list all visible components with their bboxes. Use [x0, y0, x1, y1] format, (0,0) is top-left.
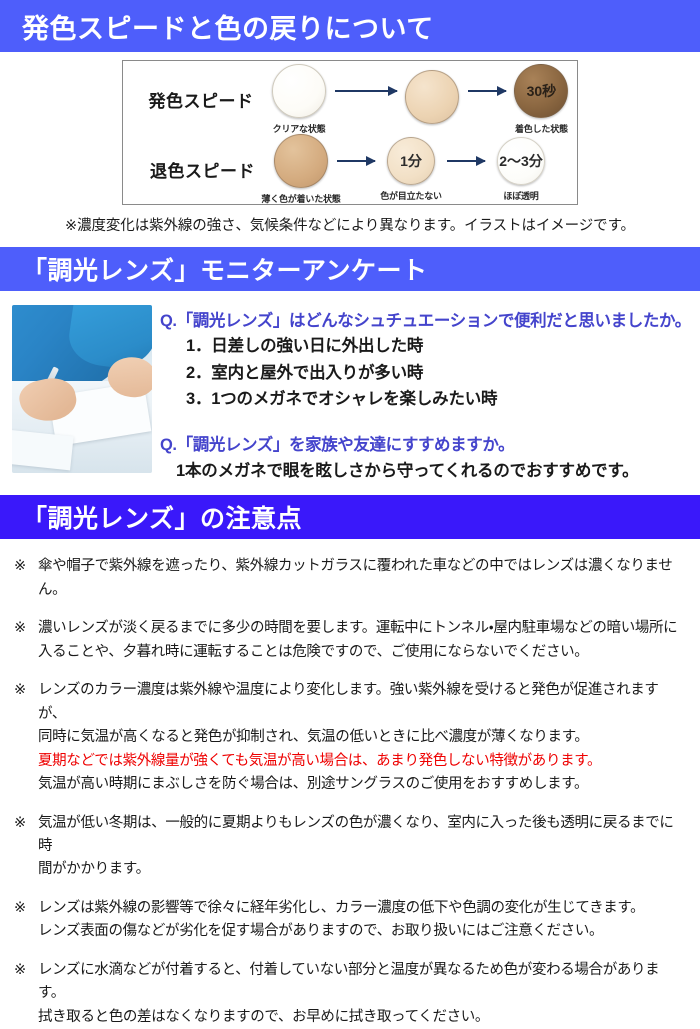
caution-line: レンズ表面の傷などが劣化を促す場合がありますので、お取り扱いにはご注意ください。: [38, 920, 684, 943]
arrow-right-icon: [447, 160, 485, 162]
caution-text: レンズは紫外線の影響等で徐々に経年劣化し、カラー濃度の低下や色調の変化が生じてき…: [38, 897, 684, 944]
caution-text: 気温が低い冬期は、一般的に夏期よりもレンズの色が濃くなり、室内に入った後も透明に…: [38, 812, 684, 882]
lens-badge-faint: 1分: [400, 151, 422, 171]
caution-line: 間がかかります。: [38, 858, 684, 881]
diagram-stage-clear: クリアな状態: [263, 64, 334, 135]
survey-question-1: Q.「調光レンズ」はどんなシュチュエーションで便利だと思いましたか。: [160, 307, 700, 331]
diagram-stage-faint: 1分 色が目立たない: [375, 137, 447, 202]
arrow-right-icon: [468, 90, 506, 92]
caution-bullet-mark: ※: [14, 617, 38, 664]
caution-line: 入ることや、夕暮れ時に運転することは危険ですので、ご使用にならないでください。: [38, 641, 684, 664]
section-heading-cautions-label: 「調光レンズ」の注意点: [22, 499, 302, 535]
survey-photo: [12, 305, 152, 473]
caution-line: 気温が高い時期にまぶしさを防ぐ場合は、別途サングラスのご使用をおすすめします。: [38, 773, 684, 796]
caution-text: レンズのカラー濃度は紫外線や温度により変化します。強い紫外線を受けると発色が促進…: [38, 679, 684, 796]
caution-item: ※ 傘や帽子で紫外線を遮ったり、紫外線カットガラスに覆われた車などの中ではレンズ…: [14, 555, 684, 602]
caution-line: 濃いレンズが淡く戻るまでに多少の時間を要します。運転中にトンネル・屋内駐車場など…: [38, 617, 684, 640]
diagram-stage-near-clear: 2〜3分 ほぼ透明: [485, 137, 557, 202]
lens-circle-dark: 30秒: [514, 64, 568, 118]
section-survey-body: Q.「調光レンズ」はどんなシュチュエーションで便利だと思いましたか。 1．日差し…: [0, 291, 700, 481]
caution-bullet-mark: ※: [14, 959, 38, 1029]
survey-answer-2: 1本のメガネで眼を眩しさから守ってくれるのでおすすめです。: [160, 455, 700, 481]
diagram-row-darkening: 発色スピード クリアな状態 30秒: [123, 63, 577, 135]
caution-line: レンズのカラー濃度は紫外線や温度により変化します。強い紫外線を受けると発色が促進…: [38, 679, 684, 726]
lens-circle-medium: [274, 134, 328, 188]
caution-item: ※ レンズのカラー濃度は紫外線や温度により変化します。強い紫外線を受けると発色が…: [14, 679, 684, 796]
caution-line: レンズに水滴などが付着すると、付着していない部分と温度が異なるため色が変わる場合…: [38, 959, 684, 1006]
survey-spacer: [160, 413, 700, 431]
caution-text: レンズに水滴などが付着すると、付着していない部分と温度が異なるため色が変わる場合…: [38, 959, 684, 1029]
caution-line: 傘や帽子で紫外線を遮ったり、紫外線カットガラスに覆われた車などの中ではレンズは濃…: [38, 555, 684, 602]
section-color-speed-body: 発色スピード クリアな状態 30秒: [0, 60, 700, 235]
diagram-stage-dark: 30秒 着色した状態: [506, 64, 577, 135]
diagram-row-darkening-label: 発色スピード: [123, 87, 263, 112]
diagram-disclaimer-note: ※濃度変化は紫外線の強さ、気候条件などにより異なります。イラストはイメージです。: [0, 214, 700, 235]
speed-diagram-wrapper: 発色スピード クリアな状態 30秒: [0, 60, 700, 205]
diagram-stage-faint-caption: 色が目立たない: [380, 189, 442, 202]
section-heading-cautions: 「調光レンズ」の注意点: [0, 495, 700, 539]
survey-answer-list-1: 1．日差しの強い日に外出した時 2．室内と屋外で出入りが多い時 3．1つのメガネ…: [160, 333, 700, 413]
diagram-stage-medium-caption: 薄く色が着いた状態: [261, 192, 340, 205]
survey-question-2: Q.「調光レンズ」を家族や友達にすすめますか。: [160, 431, 700, 455]
arrow-right-icon: [335, 90, 397, 92]
caution-bullet-mark: ※: [14, 897, 38, 944]
lens-circle-faint: 1分: [387, 137, 435, 185]
arrow-right-icon: [337, 160, 375, 162]
diagram-stage-light: [397, 70, 468, 128]
caution-item: ※ 気温が低い冬期は、一般的に夏期よりもレンズの色が濃くなり、室内に入った後も透…: [14, 812, 684, 882]
diagram-stage-medium: 薄く色が着いた状態: [265, 134, 337, 205]
caution-line: 同時に気温が高くなると発色が抑制され、気温の低いときに比べ濃度が薄くなります。: [38, 726, 684, 749]
caution-bullet-mark: ※: [14, 679, 38, 796]
survey-answer-item: 3．1つのメガネでオシャレを楽しみたい時: [160, 386, 700, 413]
lens-circle-clear: [272, 64, 326, 118]
caution-line: 気温が低い冬期は、一般的に夏期よりもレンズの色が濃くなり、室内に入った後も透明に…: [38, 812, 684, 859]
diagram-row-fading-label: 退色スピード: [123, 157, 265, 182]
lens-badge-near-clear: 2〜3分: [499, 151, 543, 171]
survey-answer-item: 2．室内と屋外で出入りが多い時: [160, 360, 700, 387]
diagram-stage-near-clear-caption: ほぼ透明: [503, 189, 538, 202]
caution-item: ※ 濃いレンズが淡く戻るまでに多少の時間を要します。運転中にトンネル・屋内駐車場…: [14, 617, 684, 664]
section-heading-survey-label: 「調光レンズ」モニターアンケート: [22, 251, 428, 287]
survey-answer-item: 1．日差しの強い日に外出した時: [160, 333, 700, 360]
section-cautions-body: ※ 傘や帽子で紫外線を遮ったり、紫外線カットガラスに覆われた車などの中ではレンズ…: [0, 539, 700, 1029]
section-heading-survey: 「調光レンズ」モニターアンケート: [0, 247, 700, 291]
speed-diagram: 発色スピード クリアな状態 30秒: [122, 60, 578, 205]
caution-bullet-mark: ※: [14, 812, 38, 882]
lens-circle-light: [405, 70, 459, 124]
section-heading-color-speed-label: 発色スピードと色の戻りについて: [22, 7, 434, 46]
photo-paper-secondary-shape: [12, 430, 74, 471]
caution-text: 濃いレンズが淡く戻るまでに多少の時間を要します。運転中にトンネル・屋内駐車場など…: [38, 617, 684, 664]
lens-badge-dark: 30秒: [527, 81, 557, 101]
caution-item: ※ レンズに水滴などが付着すると、付着していない部分と温度が異なるため色が変わる…: [14, 959, 684, 1029]
caution-line: レンズは紫外線の影響等で徐々に経年劣化し、カラー濃度の低下や色調の変化が生じてき…: [38, 897, 684, 920]
caution-item: ※ レンズは紫外線の影響等で徐々に経年劣化し、カラー濃度の低下や色調の変化が生じ…: [14, 897, 684, 944]
caution-text: 傘や帽子で紫外線を遮ったり、紫外線カットガラスに覆われた車などの中ではレンズは濃…: [38, 555, 684, 602]
lens-circle-near-clear: 2〜3分: [497, 137, 545, 185]
caution-line: 拭き取ると色の差はなくなりますので、お早めに拭き取ってください。: [38, 1006, 684, 1029]
caution-line-highlight: 夏期などでは紫外線量が強くても気温が高い場合は、あまり発色しない特徴があります。: [38, 750, 684, 773]
section-heading-color-speed: 発色スピードと色の戻りについて: [0, 0, 700, 52]
diagram-row-fading: 退色スピード 薄く色が着いた状態 1分 色が目立たない: [123, 133, 577, 205]
survey-qa-block: Q.「調光レンズ」はどんなシュチュエーションで便利だと思いましたか。 1．日差し…: [152, 305, 700, 481]
caution-bullet-mark: ※: [14, 555, 38, 602]
